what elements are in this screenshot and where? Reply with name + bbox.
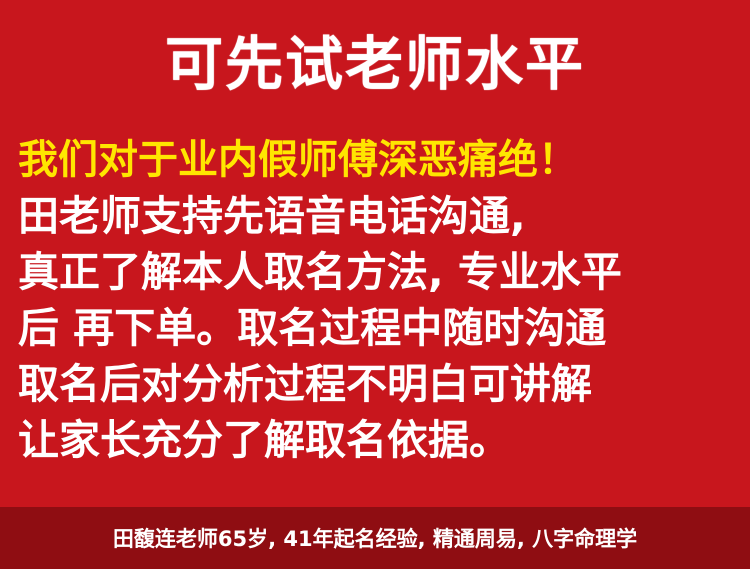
body-line-3: 真正了解本人取名方法, 专业水平 bbox=[18, 244, 732, 300]
body-line-4: 后 再下单。取名过程中随时沟通 bbox=[18, 300, 732, 356]
title-band: 可先试老师水平 bbox=[0, 0, 750, 128]
body-line-1: 我们对于业内假师傅深恶痛绝！ bbox=[18, 132, 732, 188]
body-text-block: 我们对于业内假师傅深恶痛绝！ 田老师支持先语音电话沟通, 真正了解本人取名方法,… bbox=[0, 132, 750, 468]
body-line-6: 让家长充分了解取名依据。 bbox=[18, 412, 732, 468]
body-line-2: 田老师支持先语音电话沟通, bbox=[18, 188, 732, 244]
footer-band: 田馥连老师65岁, 41年起名经验, 精通周易, 八字命理学 bbox=[0, 507, 750, 569]
page-title: 可先试老师水平 bbox=[165, 35, 585, 93]
poster-root: 可先试老师水平 我们对于业内假师傅深恶痛绝！ 田老师支持先语音电话沟通, 真正了… bbox=[0, 0, 750, 569]
footer-credentials: 田馥连老师65岁, 41年起名经验, 精通周易, 八字命理学 bbox=[113, 523, 637, 553]
body-line-5: 取名后对分析过程不明白可讲解 bbox=[18, 356, 732, 412]
